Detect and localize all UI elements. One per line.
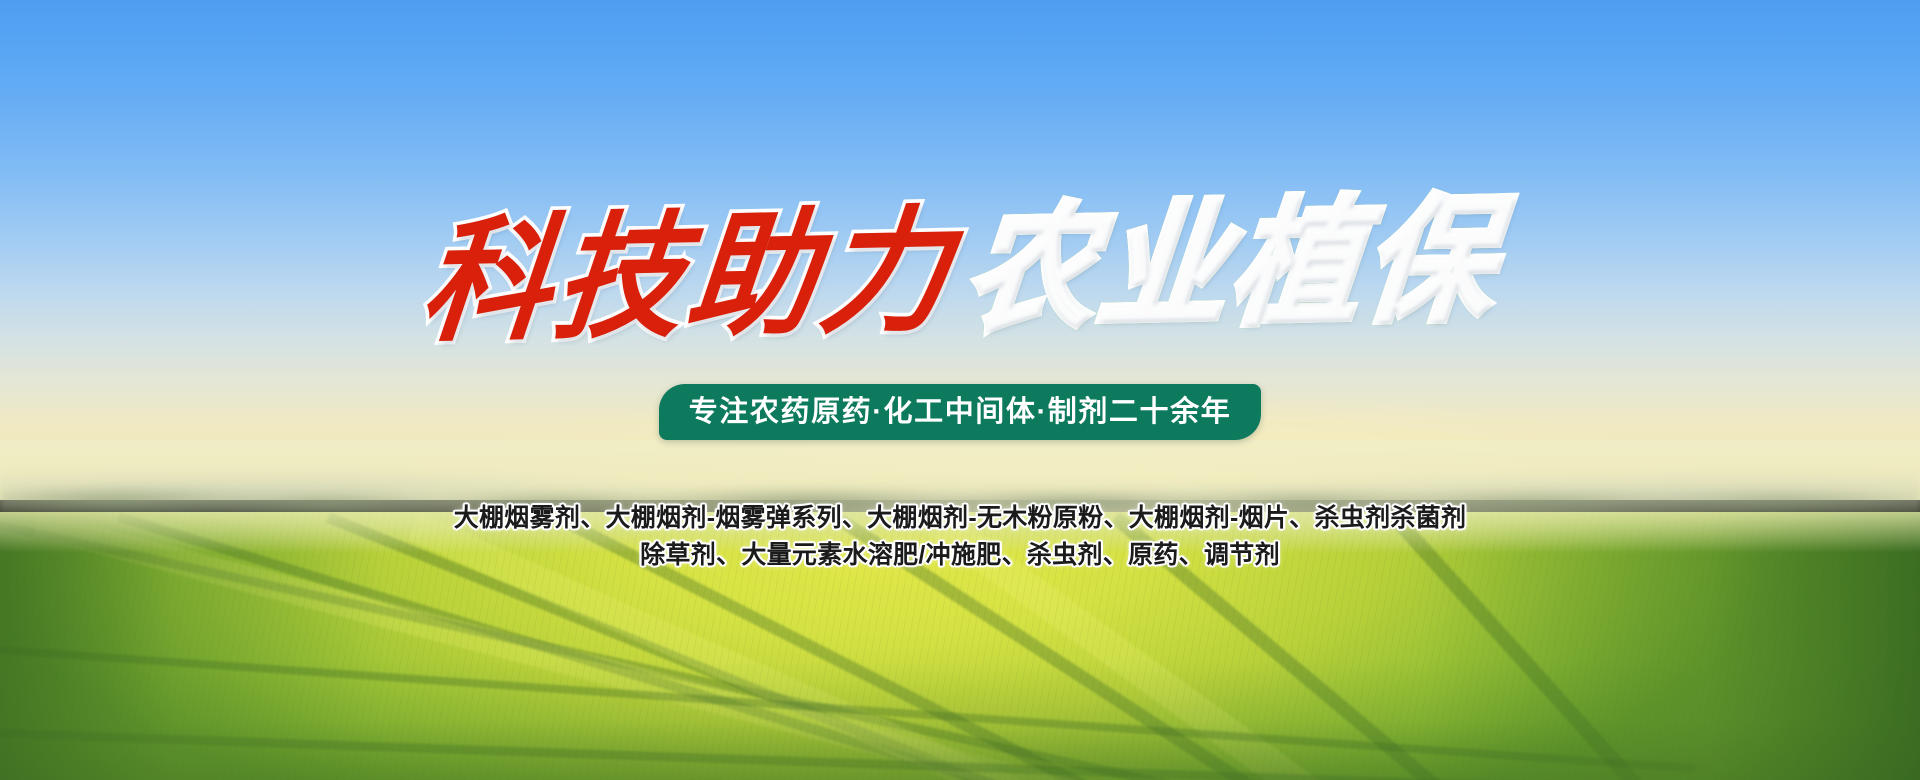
product-line-1: 大棚烟雾剂、大棚烟剂-烟雾弹系列、大棚烟剂-无木粉原粉、大棚烟剂-烟片、杀虫剂杀…	[0, 500, 1920, 537]
tagline-pill: 专注农药原药·化工中间体·制剂二十余年	[659, 384, 1262, 440]
tagline-row: 专注农药原药·化工中间体·制剂二十余年	[0, 384, 1920, 440]
product-list: 大棚烟雾剂、大棚烟剂-烟雾弹系列、大棚烟剂-无木粉原粉、大棚烟剂-烟片、杀虫剂杀…	[0, 500, 1920, 574]
hero-banner: 科技助力农业植保 专注农药原药·化工中间体·制剂二十余年 大棚烟雾剂、大棚烟剂-…	[0, 0, 1920, 780]
product-line-2: 除草剂、大量元素水溶肥/冲施肥、杀虫剂、原药、调节剂	[0, 537, 1920, 574]
